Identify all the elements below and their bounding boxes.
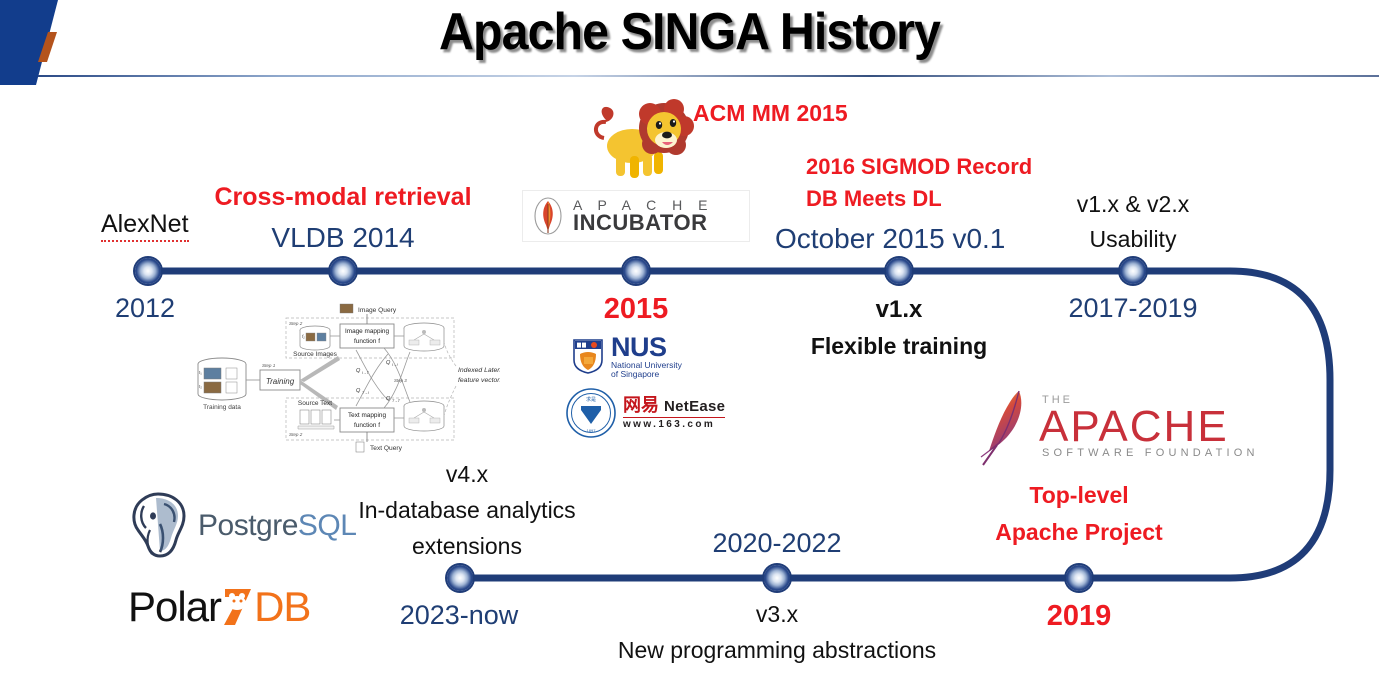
netease-english: NetEase [664,399,725,416]
netease-chinese: 网易 [623,396,659,416]
header-divider [38,75,1379,77]
svg-text:Q: Q [356,368,361,374]
svg-text:I→I: I→I [392,363,398,367]
apache-software-foundation-logo: THE APACHE SOFTWARE FOUNDATION [975,387,1259,467]
label-v1x-v2x: v1.x & v2.x [1077,191,1189,218]
nus-line2: of Singapore [611,370,682,379]
svg-text:Source Text: Source Text [298,400,332,407]
label-in-database-analytics: In-database analytics [358,497,575,524]
incubator-feather-icon [531,195,565,237]
netease-logo: 网易 NetEase www.163.com [623,396,725,430]
svg-text:t₂: t₂ [199,384,202,389]
svg-text:Q: Q [386,360,391,366]
svg-text:T→T: T→T [392,399,401,403]
zhejiang-university-seal: 求是 1897 [565,387,617,439]
svg-text:Text Query: Text Query [370,445,403,452]
label-new-programming-abstractions: New programming abstractions [618,637,936,664]
polardb-part1: Polar [128,583,221,631]
label-year-2020-2022: 2020-2022 [712,528,841,559]
svg-text:Q: Q [356,388,361,394]
timeline-node-2023-now[interactable] [447,565,473,591]
label-vldb-2014: VLDB 2014 [271,222,414,254]
timeline-node-v1x[interactable] [886,258,912,284]
asf-label-foundation: SOFTWARE FOUNDATION [1042,448,1259,459]
postgresql-elephant-icon [120,490,196,562]
svg-text:function f: function f [354,422,380,429]
label-top-level: Top-level [1029,482,1128,509]
svg-text:Source Images: Source Images [293,351,337,358]
label-year-2017-2019: 2017-2019 [1068,293,1197,324]
label-flexible-training: Flexible training [811,333,987,360]
svg-text:feature vectors: feature vectors [458,377,500,384]
asf-label-apache: APACHE [1039,406,1259,448]
incubator-label-incubator: INCUBATOR [573,212,713,234]
label-apache-project: Apache Project [995,519,1162,546]
postgresql-logo: PostgreSQL [120,490,356,562]
label-extensions: extensions [412,533,522,560]
label-october-2015-v01: October 2015 v0.1 [775,223,1005,255]
label-usability: Usability [1090,226,1177,253]
polardb-part2: DB [254,583,310,631]
timeline-node-2012[interactable] [135,258,161,284]
svg-text:Step 3: Step 3 [394,378,407,383]
singa-lion-mascot [588,92,698,188]
svg-text:Image Query: Image Query [358,307,397,314]
svg-text:Training: Training [266,377,295,386]
polardb-logo: Polar DB [128,583,310,631]
label-v3x: v3.x [756,601,798,628]
label-acm-mm-2015: ACM MM 2015 [693,100,848,127]
page-title: Apache SINGA History [48,2,1330,62]
svg-text:Image mapping: Image mapping [345,328,389,335]
postgresql-part2: SQL [298,509,357,542]
nus-logo: NUS National University of Singapore [572,333,682,379]
svg-text:Q: Q [386,396,391,402]
svg-text:T→I: T→I [362,391,369,395]
svg-text:Step 2: Step 2 [289,432,303,437]
timeline-node-2015[interactable] [623,258,649,284]
postgresql-part1: Postgre [198,509,298,542]
svg-text:1897: 1897 [587,428,597,433]
svg-text:Indexed Latent: Indexed Latent [458,367,500,374]
svg-text:Step 2: Step 2 [289,321,303,326]
nus-crest-icon [572,338,604,374]
label-year-2023-now: 2023-now [400,600,519,631]
polardb-bear-icon [221,585,255,629]
label-v1x: v1.x [876,296,923,324]
svg-text:function f: function f [354,338,380,345]
label-db-meets-dl: DB Meets DL [806,186,942,212]
label-year-2012: 2012 [115,293,175,324]
netease-url: www.163.com [623,419,725,430]
label-alexnet: AlexNet [101,210,189,242]
timeline-node-2019[interactable] [1066,565,1092,591]
svg-text:Text mapping: Text mapping [348,412,386,419]
timeline-node-2014[interactable] [330,258,356,284]
svg-text:I→T: I→T [362,371,370,375]
apache-incubator-logo: A P A C H E INCUBATOR [522,190,750,242]
timeline-node-v3x[interactable] [764,565,790,591]
label-year-2019: 2019 [1047,600,1112,633]
svg-text:求是: 求是 [586,396,596,403]
postgresql-wordmark: PostgreSQL [198,509,356,543]
label-sigmod-record: 2016 SIGMOD Record [806,154,1032,180]
svg-text:t₁: t₁ [199,370,202,375]
slide-canvas: Apache SINGA History AlexNet 2012 Cross-… [0,0,1379,681]
cross-modal-retrieval-diagram: Training data t₁ t₂ Training Step 1 Step… [188,302,500,454]
label-year-2015: 2015 [604,293,669,326]
svg-text:Training data: Training data [203,404,241,411]
nus-abbr: NUS [611,333,682,361]
asf-feather-icon [975,387,1033,467]
svg-text:Step 1: Step 1 [262,363,276,368]
label-v4x: v4.x [446,461,488,488]
label-cross-modal-retrieval: Cross-modal retrieval [214,183,471,212]
timeline-node-2017-2019[interactable] [1120,258,1146,284]
